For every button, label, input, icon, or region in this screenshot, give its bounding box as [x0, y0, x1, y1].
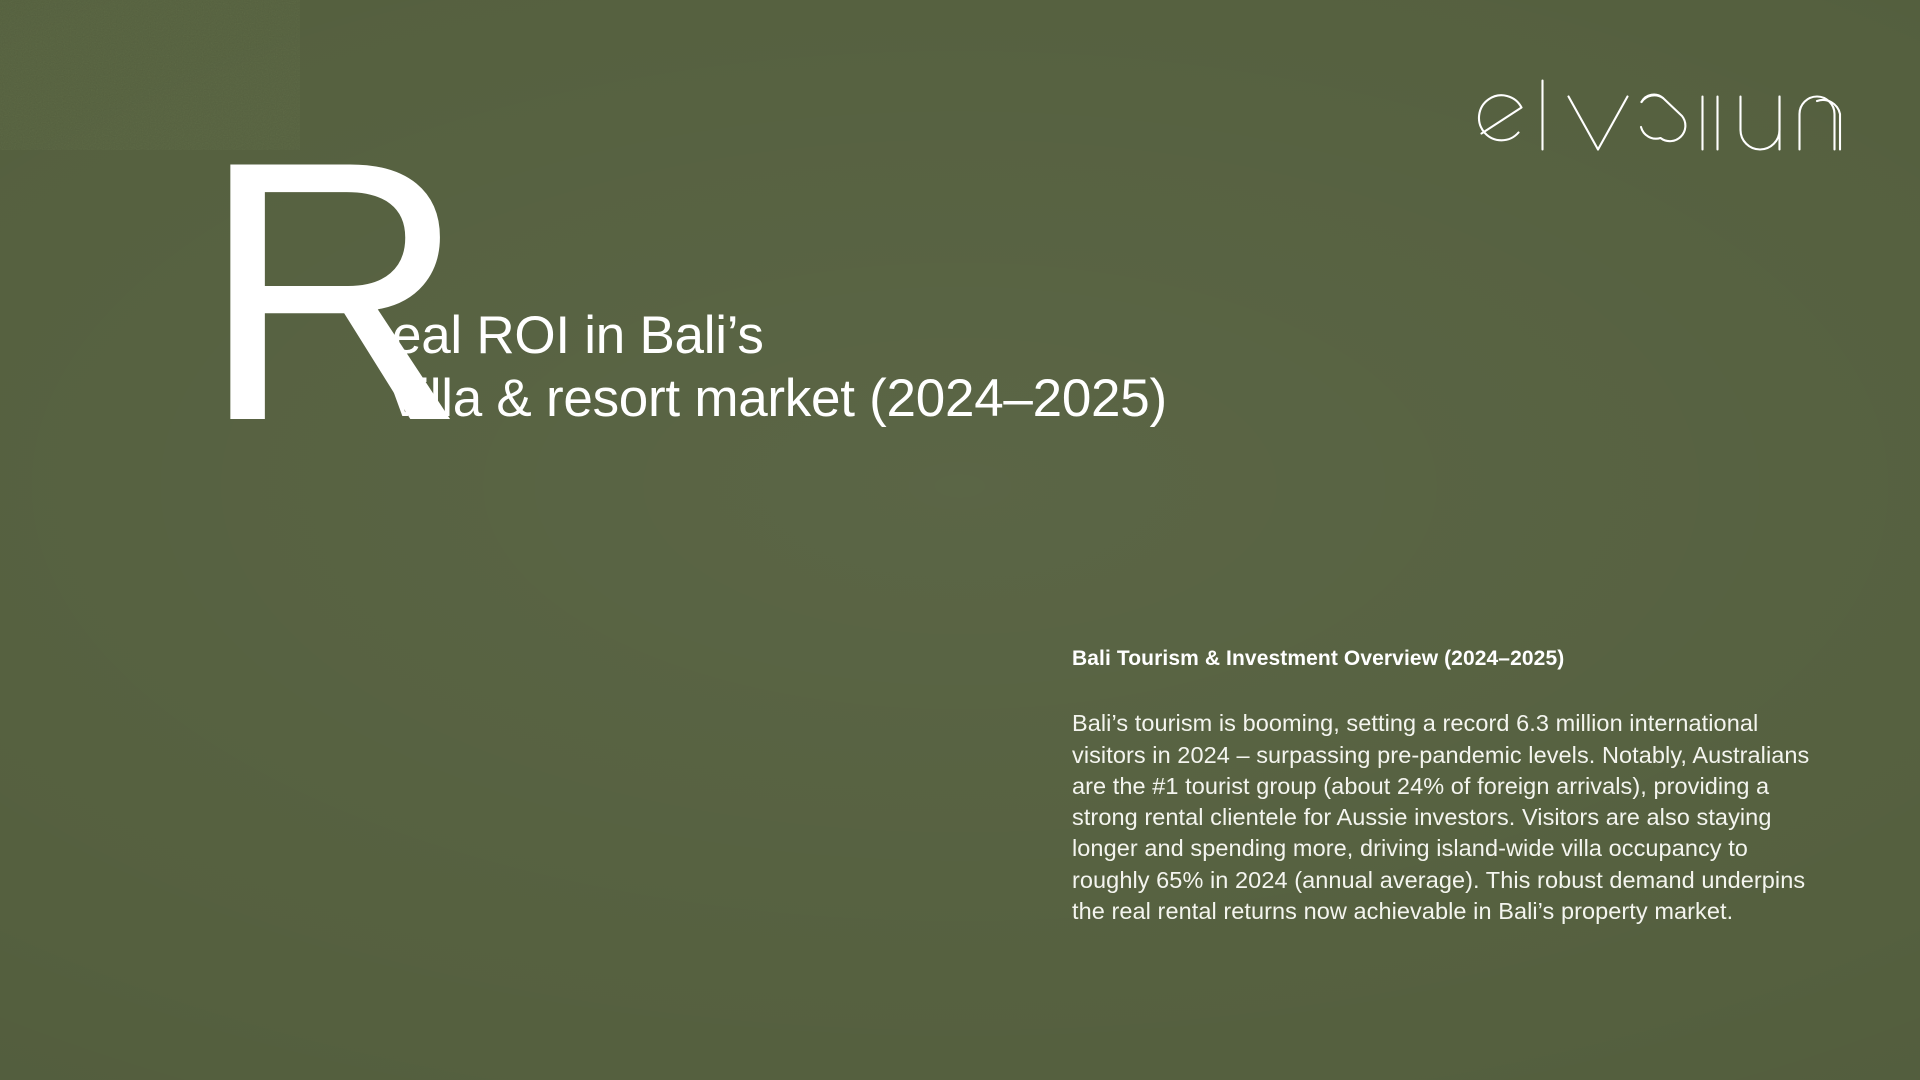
headline-line-2: villa & resort market (2024–2025) — [392, 368, 1167, 431]
headline-line-1: eal ROI in Bali’s — [392, 305, 1167, 368]
elysium-wordmark-icon — [1464, 78, 1842, 150]
overview-title: Bali Tourism & Investment Overview (2024… — [1072, 645, 1832, 672]
headline: R eal ROI in Bali’s villa & resort marke… — [200, 150, 1500, 480]
presentation-slide: R eal ROI in Bali’s villa & resort marke… — [0, 0, 1920, 1080]
elysium-logo[interactable] — [1464, 78, 1842, 150]
overview-block: Bali Tourism & Investment Overview (2024… — [1072, 645, 1832, 927]
headline-text: eal ROI in Bali’s villa & resort market … — [392, 305, 1167, 430]
overview-body: Bali’s tourism is booming, setting a rec… — [1072, 708, 1812, 927]
